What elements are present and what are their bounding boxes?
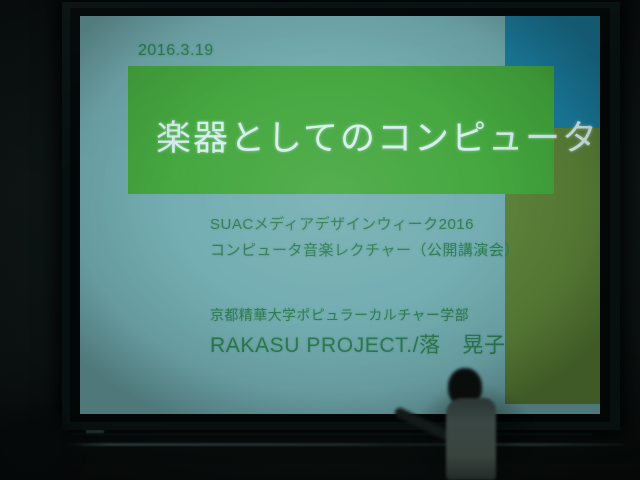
presentation-slide: 2016.3.19 楽器としてのコンピュータ SUACメディアデザインウィーク2…	[80, 16, 600, 414]
projection-screen-frame: 2016.3.19 楽器としてのコンピュータ SUACメディアデザインウィーク2…	[62, 2, 620, 430]
wall-ledge	[64, 443, 624, 446]
subtitle-line-2: コンピュータ音楽レクチャー（公開講演会）	[210, 238, 520, 264]
presenter-silhouette	[424, 368, 528, 480]
slide-title: 楽器としてのコンピュータ	[156, 110, 599, 161]
subtitle-line-1: SUACメディアデザインウィーク2016	[210, 212, 520, 238]
presenter-name: RAKASU PROJECT./落 晃子	[210, 330, 506, 362]
photo-scene: 2016.3.19 楽器としてのコンピュータ SUACメディアデザインウィーク2…	[0, 0, 640, 480]
slide-presenter-block: 京都精華大学ポピュラーカルチャー学部 RAKASU PROJECT./落 晃子	[210, 304, 506, 362]
presenter-body	[446, 398, 496, 480]
slide-date: 2016.3.19	[138, 42, 214, 60]
projection-screen-bezel: 2016.3.19 楽器としてのコンピュータ SUACメディアデザインウィーク2…	[70, 8, 610, 422]
slide-subtitle: SUACメディアデザインウィーク2016 コンピュータ音楽レクチャー（公開講演会…	[210, 212, 520, 264]
presenter-affiliation: 京都精華大学ポピュラーカルチャー学部	[210, 304, 506, 326]
audience-head-silhouette	[0, 404, 84, 480]
